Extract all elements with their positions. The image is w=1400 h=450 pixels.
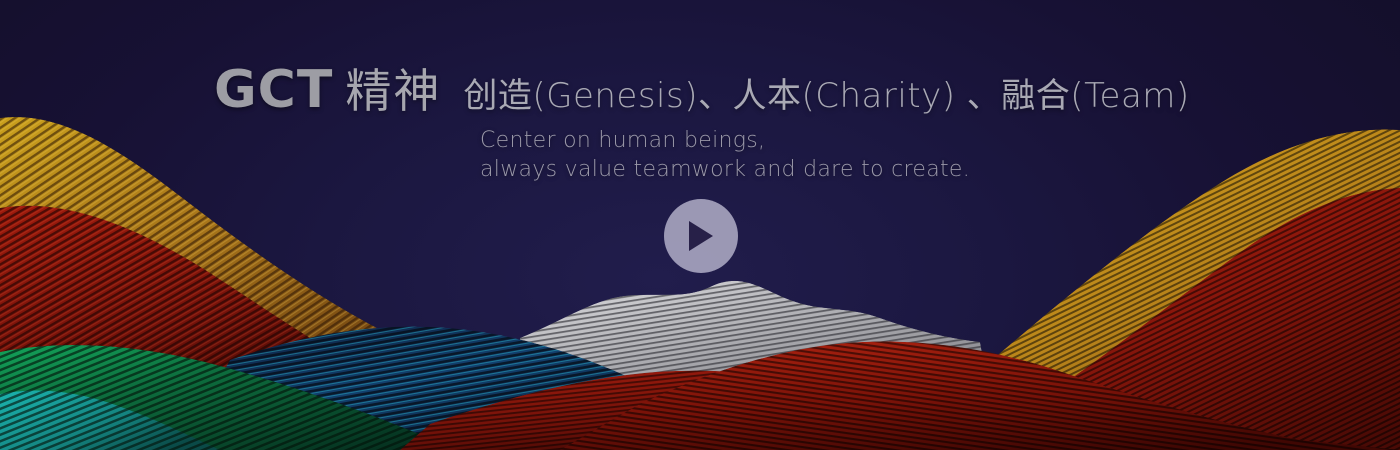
play-triangle-icon: [686, 219, 716, 253]
hero-banner: GCT 精神 创造(Genesis)、人本(Charity) 、融合(Team)…: [0, 0, 1400, 450]
play-video-button[interactable]: [664, 199, 738, 273]
